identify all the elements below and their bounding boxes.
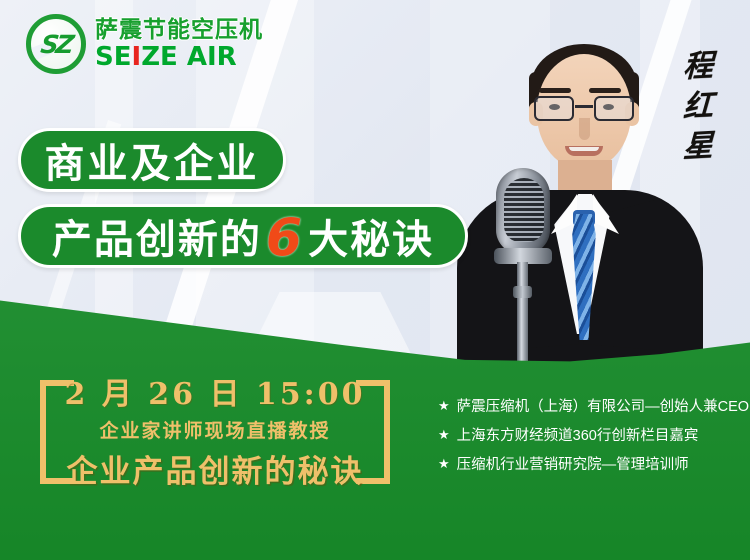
- list-item: ★ 上海东方财经频道360行创新栏目嘉宾: [438, 427, 738, 445]
- headline-number: 6: [262, 208, 308, 268]
- brand-name-en-accent: I: [132, 44, 142, 70]
- brand-name-en-part2: ZE AIR: [141, 44, 236, 70]
- glasses-lens: [534, 96, 574, 121]
- headline-line-2-suffix: 大秘诀: [308, 207, 434, 265]
- headline-line-1: 商业及企业: [18, 128, 286, 192]
- list-item-label: 上海东方财经频道360行创新栏目嘉宾: [457, 427, 699, 445]
- portrait-nose: [579, 118, 590, 140]
- star-icon: ★: [438, 398, 450, 415]
- star-icon: ★: [438, 456, 450, 473]
- speaker-name-char: 红: [682, 91, 713, 123]
- event-info-text: 2 月 26 日 15:00 企业家讲师现场直播教授 企业产品创新的秘诀: [64, 366, 366, 494]
- brand-logo: SZ 萨震节能空压机 SEIZE AIR: [26, 14, 263, 74]
- event-subtitle: 企业家讲师现场直播教授: [99, 416, 330, 443]
- event-info-block: 2 月 26 日 15:00 企业家讲师现场直播教授 企业产品创新的秘诀: [40, 366, 390, 494]
- glasses-lens: [594, 96, 634, 121]
- bracket-right: [384, 380, 390, 484]
- credentials-list: ★ 萨震压缩机（上海）有限公司—创始人兼CEO ★ 上海东方财经频道360行创新…: [438, 398, 738, 474]
- list-item: ★ 萨震压缩机（上海）有限公司—创始人兼CEO: [438, 398, 738, 416]
- microphone-grille: [504, 178, 544, 242]
- logo-monogram: SZ: [39, 32, 73, 57]
- headline-line-2: 产品创新的 6 大秘诀: [18, 204, 468, 268]
- speaker-name-char: 程: [682, 51, 713, 83]
- brand-wordmark: 萨震节能空压机 SEIZE AIR: [95, 18, 263, 70]
- brand-name-en-part1: SE: [95, 44, 132, 70]
- microphone-head: [496, 168, 550, 254]
- list-item-label: 压缩机行业营销研究院—管理培训师: [457, 456, 689, 474]
- portrait-eyebrow: [539, 88, 571, 93]
- microphone-joint: [513, 286, 532, 298]
- portrait-mouth: [565, 146, 603, 156]
- speaker-name-char: 星: [682, 131, 713, 163]
- bracket-left: [40, 380, 46, 484]
- speaker-name-vertical: 程 红 星: [676, 52, 720, 162]
- list-item: ★ 压缩机行业营销研究院—管理培训师: [438, 456, 738, 474]
- brand-name-cn: 萨震节能空压机: [95, 18, 263, 41]
- star-icon: ★: [438, 427, 450, 444]
- brand-name-en: SEIZE AIR: [95, 44, 263, 70]
- seize-air-circular-logo-icon: SZ: [26, 14, 86, 74]
- headline-line-1-text: 商业及企业: [45, 131, 260, 189]
- headline-line-2-prefix: 产品创新的: [52, 207, 262, 265]
- list-item-label: 萨震压缩机（上海）有限公司—创始人兼CEO: [457, 398, 749, 416]
- event-datetime: 2 月 26 日 15:00: [65, 369, 366, 413]
- promo-poster: SZ 萨震节能空压机 SEIZE AIR: [0, 0, 750, 560]
- glasses-bridge: [575, 105, 593, 108]
- portrait-eyebrow: [589, 88, 621, 93]
- event-topic: 企业产品创新的秘诀: [67, 446, 364, 491]
